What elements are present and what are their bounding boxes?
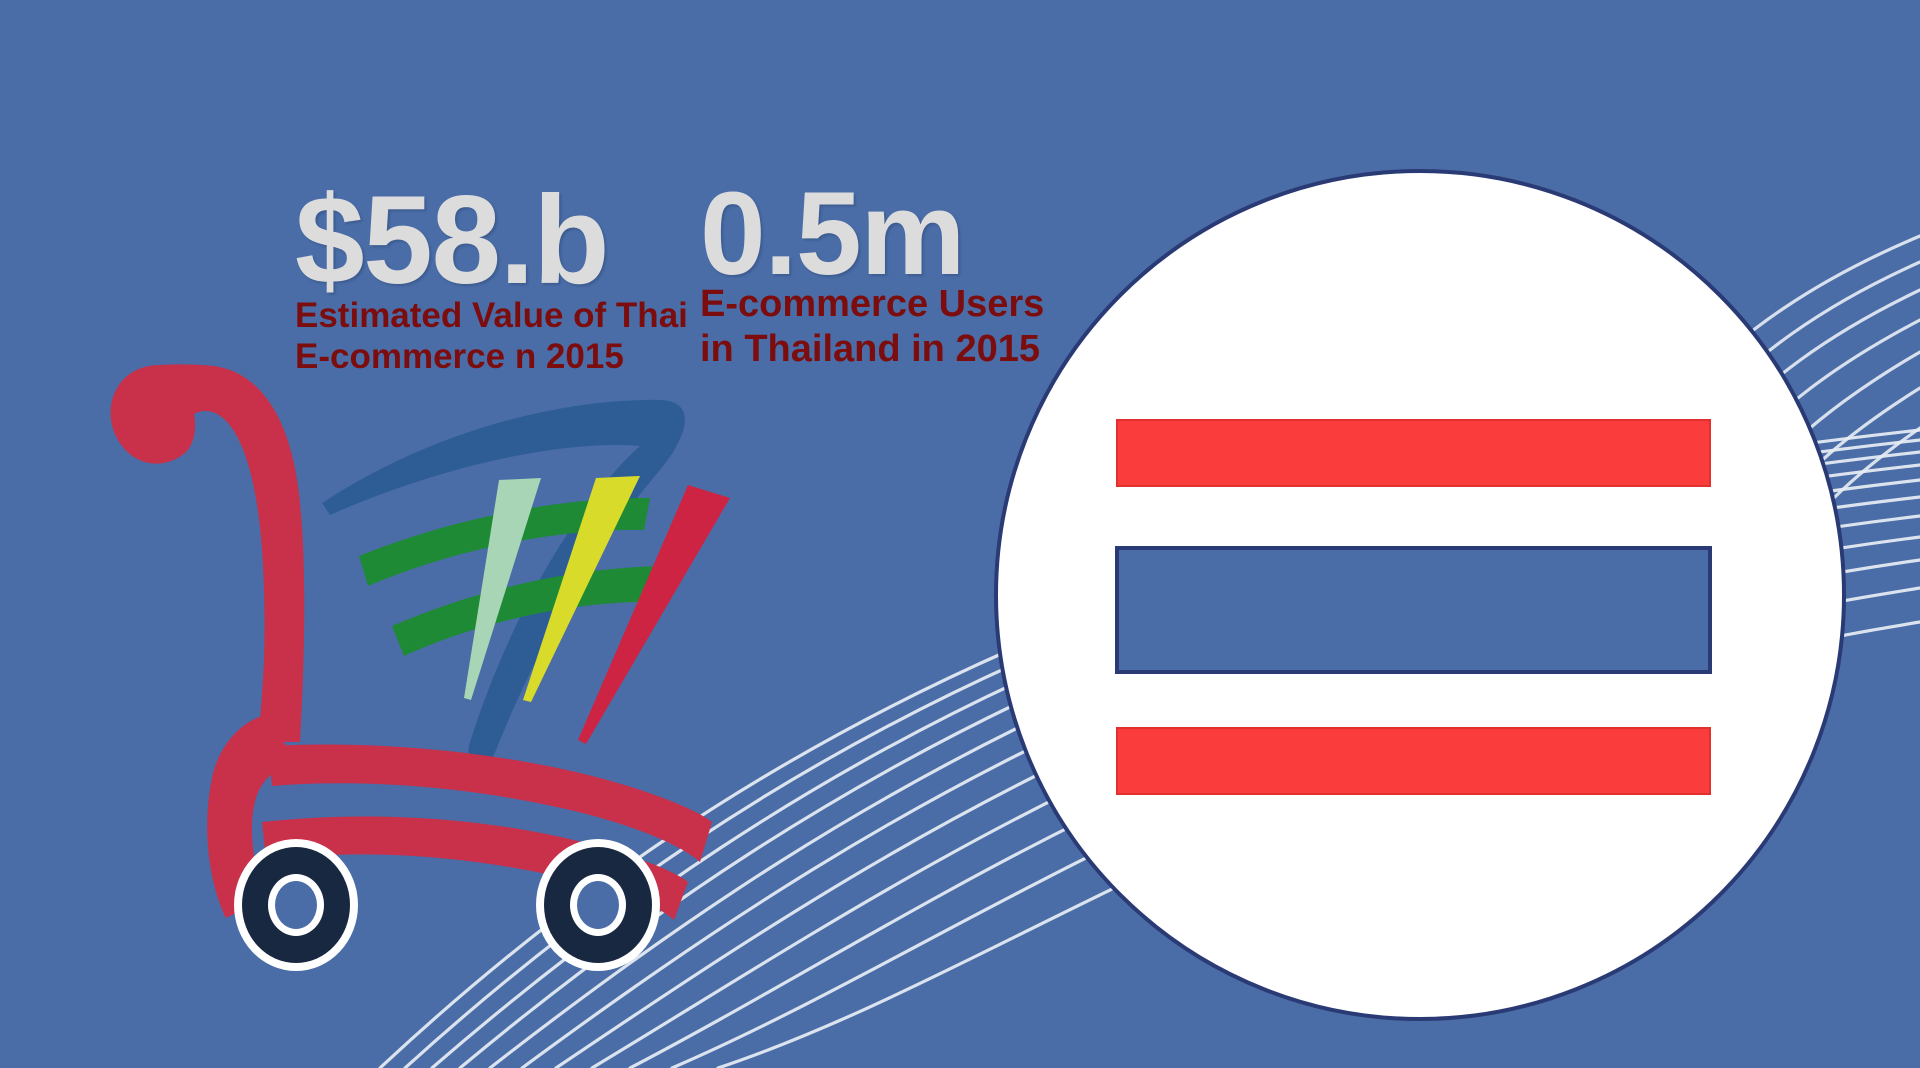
stat-ecommerce-users-caption-line-2: in Thailand in 2015 <box>700 327 1044 372</box>
stat-estimated-value: $58.b Estimated Value of Thai E-commerce… <box>295 182 688 377</box>
stat-ecommerce-users-caption: E-commerce Users in Thailand in 2015 <box>700 282 1044 372</box>
stat-ecommerce-users: 0.5m E-commerce Users in Thailand in 201… <box>700 178 1044 372</box>
stat-ecommerce-users-number: 0.5m <box>700 178 1044 290</box>
infographic-canvas: $58.b Estimated Value of Thai E-commerce… <box>0 0 1920 1068</box>
stat-estimated-value-caption: Estimated Value of Thai E-commerce n 201… <box>295 295 688 378</box>
stat-estimated-value-caption-line-1: Estimated Value of Thai <box>295 295 688 336</box>
stat-estimated-value-number: $58.b <box>295 182 688 301</box>
stat-ecommerce-users-caption-line-1: E-commerce Users <box>700 282 1044 327</box>
stat-estimated-value-caption-line-2: E-commerce n 2015 <box>295 336 688 377</box>
stats-text-layer: $58.b Estimated Value of Thai E-commerce… <box>0 0 1920 1068</box>
